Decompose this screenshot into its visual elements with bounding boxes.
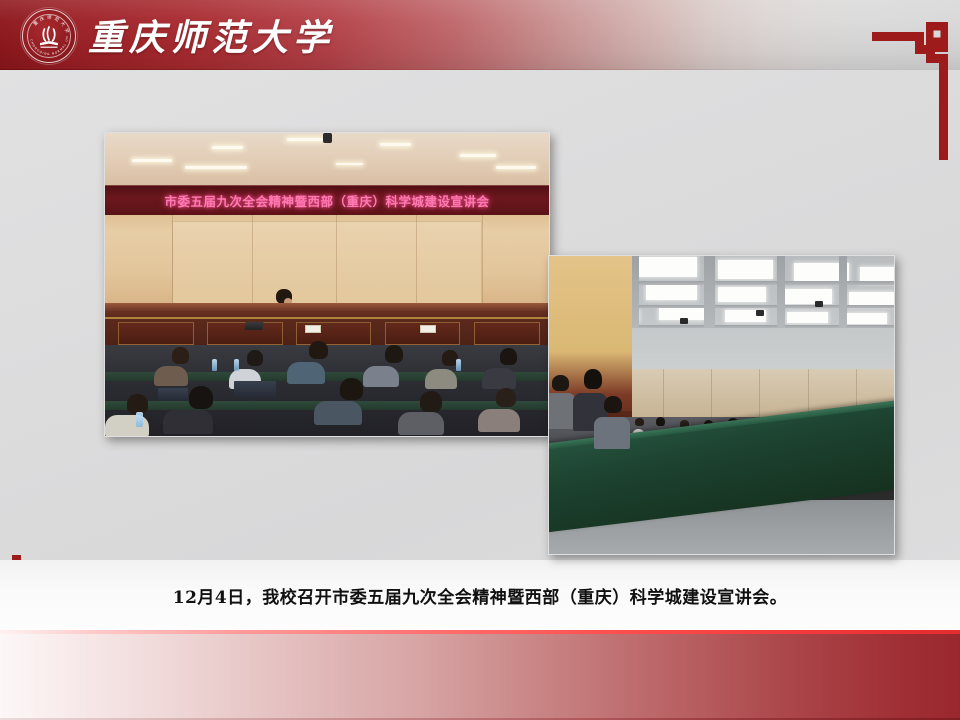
back-wall xyxy=(105,215,549,312)
caption-area: 12月4日，我校召开市委五届九次全会精神暨西部（重庆）科学城建设宣讲会。 xyxy=(0,560,960,630)
photo-2-scene xyxy=(549,256,894,554)
wall-panel xyxy=(172,221,483,306)
photo-conference-side-view[interactable] xyxy=(548,255,895,555)
presidium-laptop xyxy=(244,322,263,330)
header-bottom-edge xyxy=(0,69,960,70)
audience-laptop xyxy=(234,381,276,398)
ceiling-projector xyxy=(323,133,332,143)
ceiling xyxy=(105,133,549,185)
audience-laptop xyxy=(158,388,188,401)
university-seal-emblem: 重庆师范大学 CHONGQING NORMAL UNIVERSITY xyxy=(20,7,78,65)
photo-conference-front-view[interactable]: 市委五届九次全会精神暨西部（重庆）科学城建设宣讲会 xyxy=(104,132,550,437)
nameplate xyxy=(420,325,436,333)
slide-caption: 12月4日，我校召开市委五届九次全会精神暨西部（重庆）科学城建设宣讲会。 xyxy=(173,583,787,608)
svg-text:重庆师范大学: 重庆师范大学 xyxy=(32,14,72,36)
svg-text:CHONGQING NORMAL UNIVERSITY: CHONGQING NORMAL UNIVERSITY xyxy=(20,7,69,56)
presidium-desk xyxy=(105,303,549,351)
slide-canvas: 重庆师范大学 CHONGQING NORMAL UNIVERSITY 重庆师范大… xyxy=(0,0,960,720)
emblem-artwork-icon: 重庆师范大学 CHONGQING NORMAL UNIVERSITY xyxy=(20,7,78,65)
photo-1-scene: 市委五届九次全会精神暨西部（重庆）科学城建设宣讲会 xyxy=(105,133,549,436)
page-title: 重庆师范大学 xyxy=(88,4,334,66)
footer-banner xyxy=(0,630,960,720)
footer-accent-line xyxy=(0,630,960,634)
chinese-corner-ornament-top-right xyxy=(872,8,950,165)
led-banner: 市委五届九次全会精神暨西部（重庆）科学城建设宣讲会 xyxy=(105,185,549,217)
corner-ornament-icon xyxy=(872,8,950,160)
nameplate xyxy=(305,325,321,333)
led-banner-text: 市委五届九次全会精神暨西部（重庆）科学城建设宣讲会 xyxy=(164,191,489,210)
